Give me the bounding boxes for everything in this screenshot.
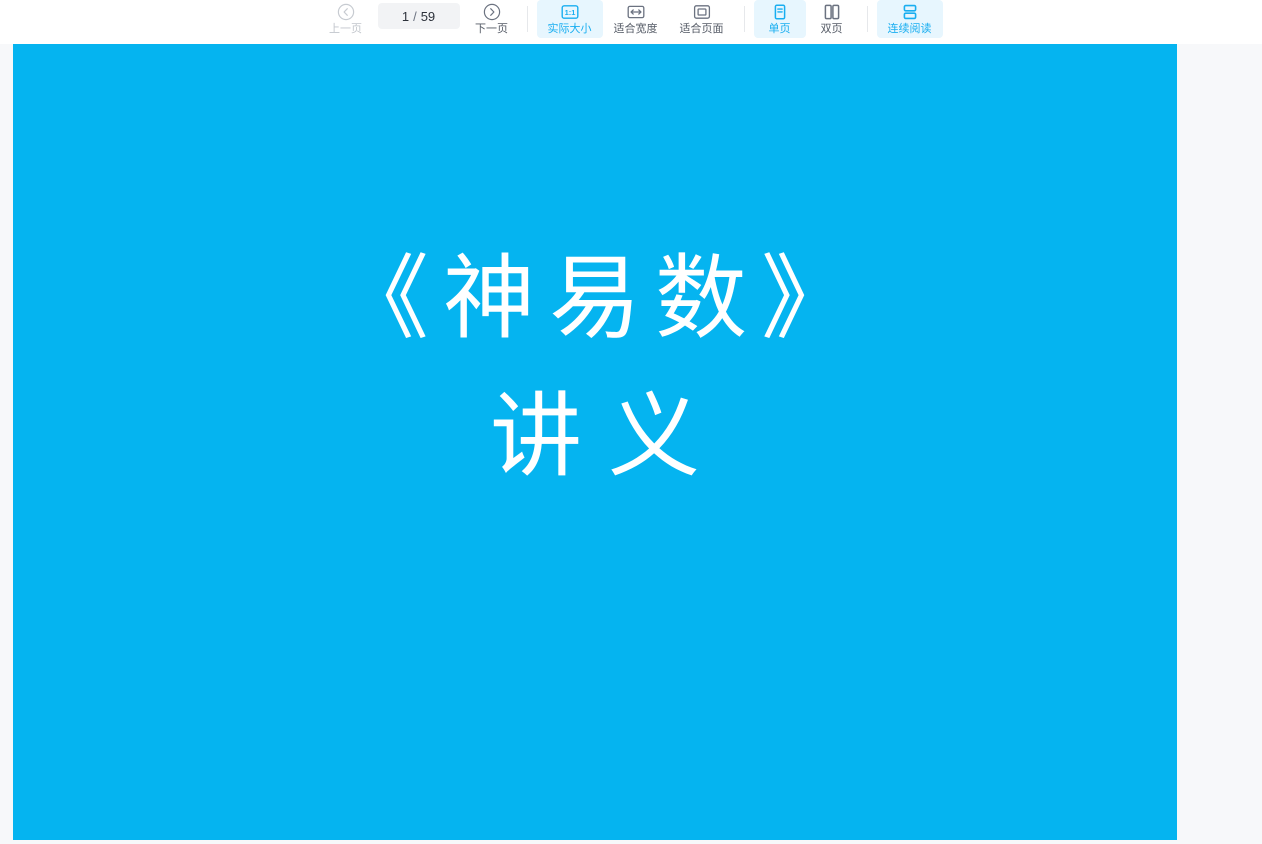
next-page-label: 下一页 — [475, 22, 508, 37]
current-page-value: 1 — [402, 9, 409, 24]
single-page-button[interactable]: 单页 — [754, 0, 806, 38]
toolbar-navigation-group: 上一页 1 / 59 下一页 — [320, 0, 518, 44]
toolbar-divider — [744, 6, 745, 32]
cover-subtitle: 讲义 — [13, 382, 1177, 492]
actual-size-button[interactable]: 1:1 实际大小 — [537, 0, 603, 38]
double-page-button[interactable]: 双页 — [806, 0, 858, 38]
total-pages-value: 59 — [421, 9, 435, 24]
pdf-page-1[interactable]: 《神易数》 讲义 — [13, 44, 1177, 840]
continuous-scroll-label: 连续阅读 — [888, 22, 932, 37]
cover-title: 《神易数》 — [13, 244, 1177, 354]
toolbar-zoom-group: 1:1 实际大小 适合宽度 — [537, 0, 735, 44]
page-separator: / — [413, 9, 417, 24]
toolbar-divider — [527, 6, 528, 32]
fit-width-label: 适合宽度 — [614, 22, 658, 37]
page-number-input[interactable]: 1 / 59 — [378, 3, 460, 29]
prev-page-label: 上一页 — [329, 22, 362, 37]
viewer-toolbar: 上一页 1 / 59 下一页 — [0, 0, 1262, 44]
single-page-icon — [771, 2, 789, 21]
fit-page-button[interactable]: 适合页面 — [669, 0, 735, 38]
chevron-right-circle-icon — [483, 2, 501, 21]
fit-width-button[interactable]: 适合宽度 — [603, 0, 669, 38]
svg-text:1:1: 1:1 — [564, 8, 575, 17]
fit-width-icon — [626, 2, 646, 21]
single-page-label: 单页 — [769, 22, 791, 37]
pdf-viewer: 上一页 1 / 59 下一页 — [0, 0, 1262, 844]
fit-page-icon — [692, 2, 712, 21]
toolbar-scroll-group: 连续阅读 — [877, 0, 943, 44]
actual-size-label: 实际大小 — [548, 22, 592, 37]
prev-page-button[interactable]: 上一页 — [320, 0, 372, 38]
next-page-button[interactable]: 下一页 — [466, 0, 518, 38]
page-container: 《神易数》 讲义 — [13, 44, 1177, 840]
one-to-one-icon: 1:1 — [560, 2, 580, 21]
fit-page-label: 适合页面 — [680, 22, 724, 37]
continuous-scroll-button[interactable]: 连续阅读 — [877, 0, 943, 38]
toolbar-layout-group: 单页 双页 — [754, 0, 858, 44]
toolbar-divider — [867, 6, 868, 32]
chevron-left-circle-icon — [337, 2, 355, 21]
double-page-label: 双页 — [821, 22, 843, 37]
double-page-icon — [823, 2, 841, 21]
document-canvas[interactable]: 《神易数》 讲义 — [0, 44, 1262, 844]
continuous-scroll-icon — [901, 2, 919, 21]
